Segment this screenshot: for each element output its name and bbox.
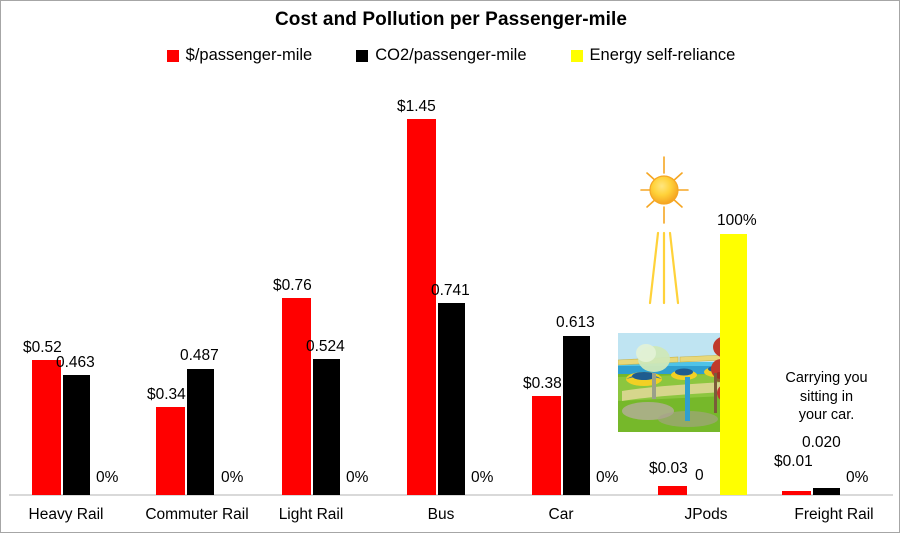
bar-jpods-cost [658,486,687,495]
value-label-car-cost: $0.38 [523,375,562,393]
bar-car-cost [532,396,561,495]
value-label-car-energy: 0% [596,469,618,487]
bar-commuter-rail-cost [156,407,185,495]
value-label-bus-cost: $1.45 [397,98,436,116]
value-label-freight-rail-cost: $0.01 [774,453,813,471]
category-label-jpods: JPods [651,506,761,524]
bar-heavy-rail-cost [32,360,61,495]
value-label-jpods-cost: $0.03 [649,460,688,478]
category-label-bus: Bus [386,506,496,524]
bar-freight-rail-co2 [813,488,840,495]
value-label-light-rail-co2: 0.524 [306,338,345,356]
bar-jpods-energy [720,234,747,495]
value-label-jpods-co2: 0 [695,467,704,485]
sun-icon [635,151,721,311]
chart-annotation: Carrying you sitting in your car. [769,369,884,425]
value-label-commuter-rail-cost: $0.34 [147,386,186,404]
value-label-commuter-rail-energy: 0% [221,469,243,487]
annotation-line-2: sitting in [769,388,884,407]
bar-car-co2 [563,336,590,495]
value-label-light-rail-energy: 0% [346,469,368,487]
annotation-line-1: Carrying you [769,369,884,388]
category-label-commuter-rail: Commuter Rail [127,506,267,524]
category-label-car: Car [506,506,616,524]
bar-light-rail-cost [282,298,311,495]
category-label-heavy-rail: Heavy Rail [11,506,121,524]
bar-freight-rail-cost [782,491,811,495]
value-label-heavy-rail-co2: 0.463 [56,354,95,372]
chart-container: Cost and Pollution per Passenger-mile $/… [0,0,900,533]
value-label-car-co2: 0.613 [556,314,595,332]
annotation-line-3: your car. [769,406,884,425]
value-label-bus-co2: 0.741 [431,282,470,300]
value-label-freight-rail-energy: 0% [846,469,868,487]
bar-bus-co2 [438,303,465,495]
bar-commuter-rail-co2 [187,369,214,495]
bar-light-rail-co2 [313,359,340,495]
value-label-bus-energy: 0% [471,469,493,487]
bar-bus-cost [407,119,436,495]
value-label-light-rail-cost: $0.76 [273,277,312,295]
value-label-commuter-rail-co2: 0.487 [180,347,219,365]
value-label-jpods-energy: 100% [717,212,757,230]
value-label-freight-rail-co2: 0.020 [802,434,841,452]
category-label-freight-rail: Freight Rail [774,506,894,524]
plot-area: $0.52 0.463 0% Heavy Rail $0.34 0.487 0%… [1,1,900,533]
value-label-heavy-rail-energy: 0% [96,469,118,487]
category-label-light-rail: Light Rail [256,506,366,524]
bar-heavy-rail-co2 [63,375,90,495]
